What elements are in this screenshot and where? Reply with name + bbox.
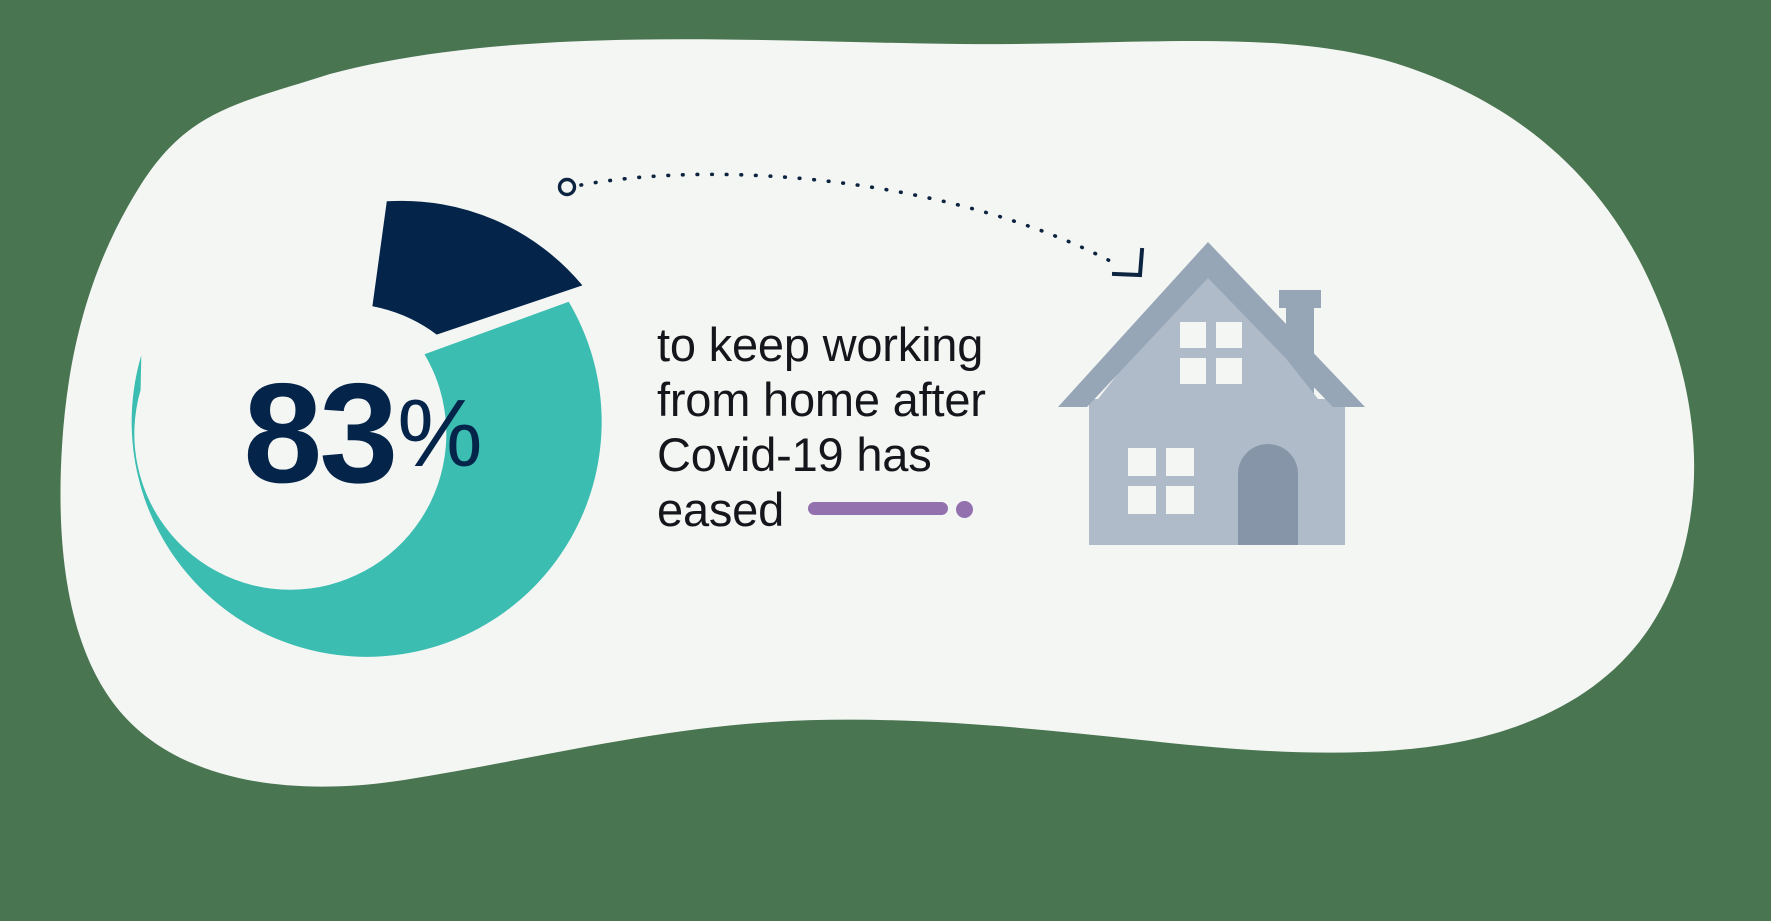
accent-rule-icon [808,502,948,515]
caption-text: to keep working from home after Covid-19… [657,318,1029,538]
stat-number: 83 [243,363,395,505]
caption-line-4-row: eased [657,483,1029,538]
house-window-upper [1180,322,1242,384]
hollow-circle-icon [560,180,575,195]
stat-value: 83 % [182,348,542,520]
caption-line-4: eased [657,483,784,538]
house-door [1238,444,1298,545]
house-icon [1058,242,1365,545]
house-chimney-cap [1279,290,1321,308]
caption-line-1: to keep working [657,318,1029,373]
house-window-lower [1128,448,1194,514]
accent-dot-icon [956,501,973,518]
caption-line-2: from home after [657,373,1029,428]
caption-line-3: Covid-19 has [657,428,1029,483]
dotted-arrow-path [581,174,1112,262]
stat-unit: % [397,386,480,482]
arrowhead-icon [1114,250,1142,275]
infographic-canvas: 83 % to keep working from home after Cov… [0,0,1771,921]
dotted-curved-arrow [560,174,1143,275]
